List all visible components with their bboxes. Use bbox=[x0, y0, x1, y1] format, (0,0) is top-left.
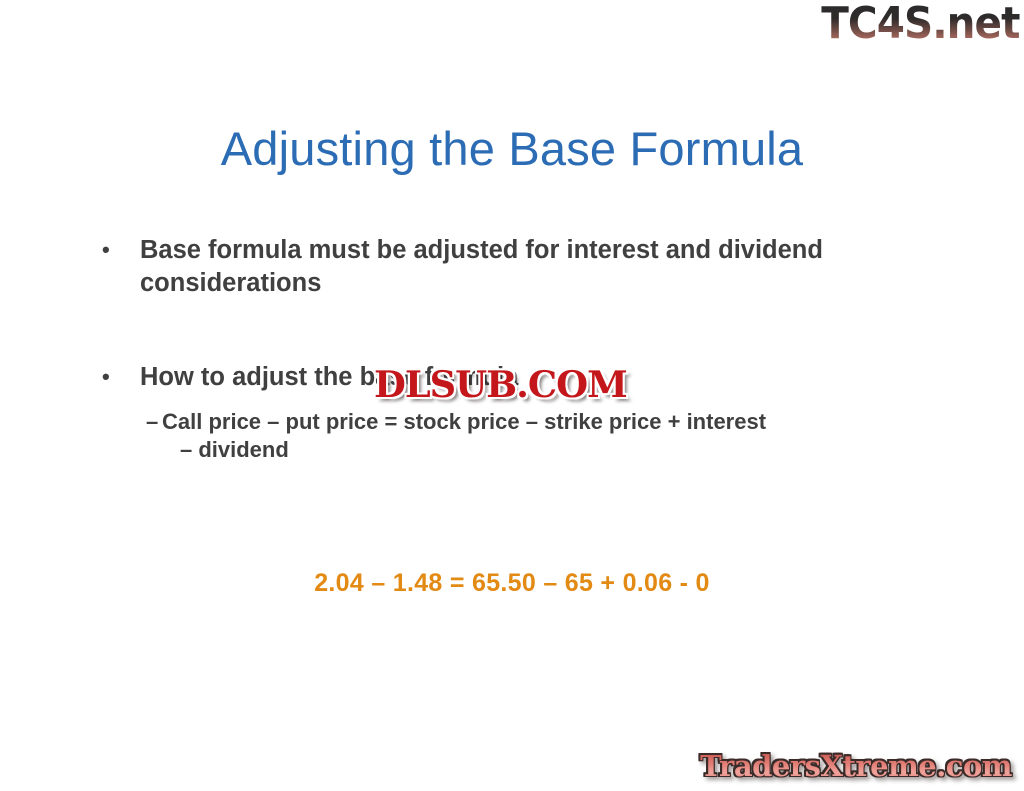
tc4s-net-logo: TC4S.net bbox=[822, 2, 1020, 46]
page-title: Adjusting the Base Formula bbox=[0, 122, 1024, 176]
slide-canvas: TC4S.net Adjusting the Base Formula • Ba… bbox=[0, 0, 1024, 791]
dlsub-com-watermark: DLSUB.COM bbox=[374, 367, 627, 403]
formula-line: 2.04 – 1.48 = 65.50 – 65 + 0.06 - 0 bbox=[0, 569, 1024, 598]
slide-body: • Base formula must be adjusted for inte… bbox=[96, 234, 926, 465]
dash-marker-icon: – bbox=[146, 408, 162, 437]
spacer-1 bbox=[96, 299, 926, 361]
sub-bullet-text-1: Call price – put price = stock price – s… bbox=[162, 409, 766, 434]
bullet-item-1: • Base formula must be adjusted for inte… bbox=[96, 234, 926, 299]
tradersxtreme-com-logo: TradersXtreme.com bbox=[700, 752, 1012, 781]
bullet-marker-icon: • bbox=[96, 234, 140, 265]
bullet-text-1: Base formula must be adjusted for intere… bbox=[140, 234, 860, 299]
sub-bullet-item-1: – Call price – put price = stock price –… bbox=[96, 408, 926, 465]
bullet-marker-icon: • bbox=[96, 361, 140, 392]
sub-bullet-continuation-1: – dividend bbox=[162, 436, 922, 465]
sub-bullet-text-wrap: Call price – put price = stock price – s… bbox=[162, 408, 922, 465]
